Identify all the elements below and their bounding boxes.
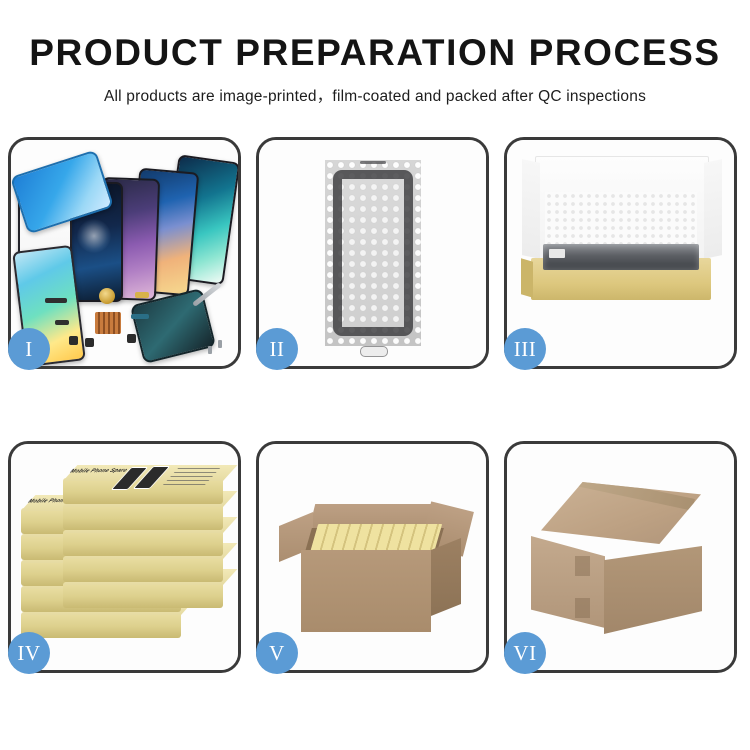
step-panel-3: III <box>504 137 737 369</box>
step-panel-5: V <box>256 441 489 673</box>
screw-b <box>208 346 212 354</box>
screw-a <box>218 340 222 348</box>
part-chip-c <box>127 334 136 343</box>
step-badge-5: V <box>256 632 298 674</box>
stacked-box <box>63 504 223 530</box>
carton-front-face <box>301 550 431 632</box>
open-carton <box>285 494 461 634</box>
page-subtitle: All products are image-printed，film-coat… <box>0 84 750 106</box>
step-badge-4: IV <box>8 632 50 674</box>
step-3-image <box>507 140 734 366</box>
carton-tab-lower <box>575 598 590 618</box>
step-4-image: Mobile Phone Spare Parts Mobile Phone Sp… <box>11 444 238 670</box>
page-title: PRODUCT PREPARATION PROCESS <box>0 34 750 73</box>
step-6-image <box>507 444 734 670</box>
carton-left-face <box>531 536 605 628</box>
part-ribbon-cable <box>131 314 149 319</box>
step-panel-4: Mobile Phone Spare Parts Mobile Phone Sp… <box>8 441 241 673</box>
part-chip-a <box>69 336 78 345</box>
product-preparation-infographic: PRODUCT PREPARATION PROCESS All products… <box>0 0 750 750</box>
screen-earpiece <box>360 161 386 164</box>
part-flex-cable <box>55 320 69 325</box>
step-panel-2: II <box>256 137 489 369</box>
step-5-image <box>259 444 486 670</box>
steps-grid: I II III <box>8 137 742 673</box>
step-badge-3: III <box>504 328 546 370</box>
box-stack: Mobile Phone Spare Parts Mobile Phone Sp… <box>17 464 231 660</box>
step-2-image <box>259 140 486 366</box>
packing-tape <box>571 473 695 511</box>
carton-side-face <box>431 538 461 616</box>
carton-tab-upper <box>575 556 590 576</box>
carton-top-face <box>541 482 701 544</box>
kraft-box-base <box>531 258 711 300</box>
screen-glass-frame <box>333 170 413 336</box>
step-badge-6: VI <box>504 632 546 674</box>
part-copper-grid <box>95 312 121 334</box>
step-badge-2: II <box>256 328 298 370</box>
header: PRODUCT PREPARATION PROCESS All products… <box>0 0 750 106</box>
part-coil <box>99 288 115 304</box>
step-panel-1: I <box>8 137 241 369</box>
step-1-image <box>11 140 238 366</box>
bubble-wrapped-screen <box>325 160 421 346</box>
stacked-box <box>63 556 223 582</box>
sealed-carton <box>531 482 713 640</box>
stacked-box-labeled: Mobile Phone Spare Parts <box>63 478 223 504</box>
step-panel-6: VI <box>504 441 737 673</box>
part-gold-connector <box>135 292 149 298</box>
stacked-box <box>63 582 223 608</box>
box-spec-lines <box>163 467 221 485</box>
packed-screen <box>543 244 699 270</box>
stacked-box <box>63 530 223 556</box>
stacked-box <box>21 612 181 638</box>
carton-right-face <box>604 546 702 634</box>
step-badge-1: I <box>8 328 50 370</box>
part-chip-b <box>85 338 94 347</box>
part-strip <box>45 298 67 303</box>
